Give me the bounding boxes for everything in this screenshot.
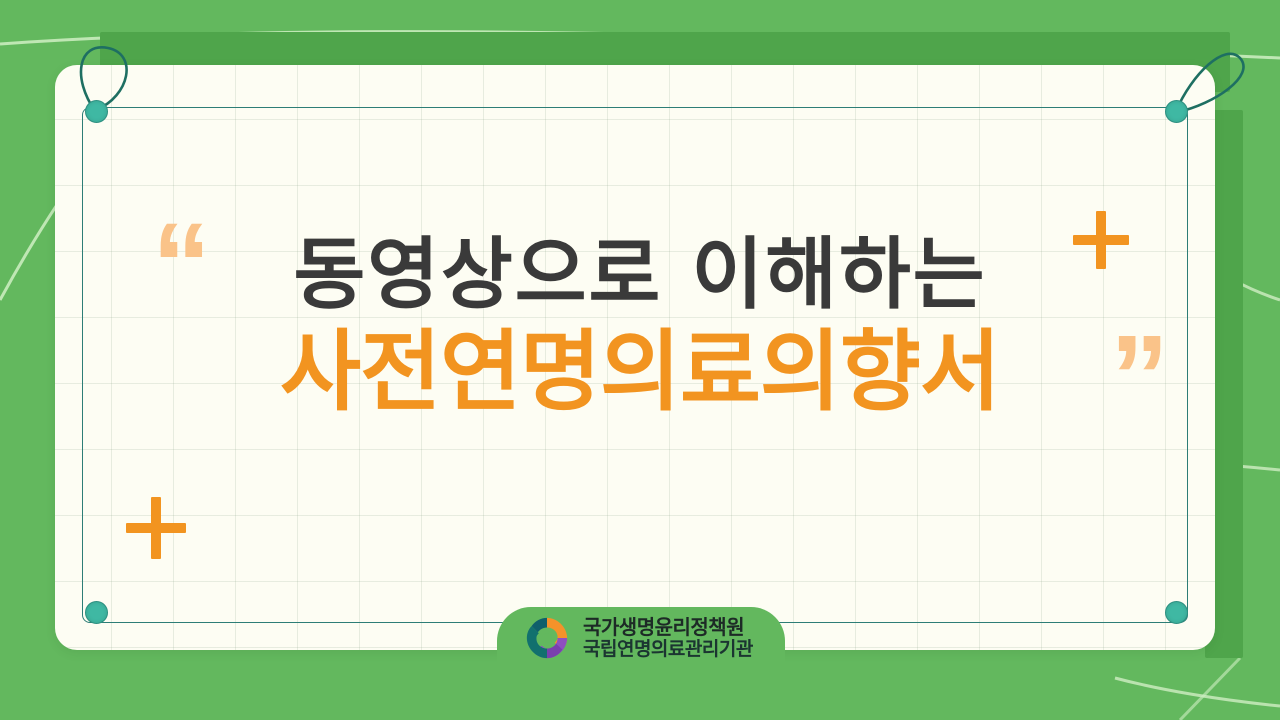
pin-dot-top-right bbox=[1165, 100, 1188, 123]
organization-subname: 국립연명의료관리기관 bbox=[583, 639, 753, 660]
pin-dot-bottom-right bbox=[1165, 601, 1188, 624]
pin-dot-top-left bbox=[85, 100, 108, 123]
slide-canvas: “ ” 동영상으로 이해하는 사전연명의료의향서 국가생명윤리정책원 국립연명의… bbox=[0, 0, 1280, 720]
title-block: 동영상으로 이해하는 사전연명의료의향서 bbox=[0, 236, 1280, 418]
pin-dot-bottom-left bbox=[85, 601, 108, 624]
organization-name-block: 국가생명윤리정책원 국립연명의료관리기관 bbox=[583, 616, 753, 660]
pinwheel-logo-icon bbox=[523, 614, 571, 662]
plus-icon-bottom-left bbox=[126, 497, 186, 559]
title-line-secondary: 사전연명의료의향서 bbox=[0, 326, 1280, 418]
title-line-primary: 동영상으로 이해하는 bbox=[0, 236, 1280, 314]
organization-name: 국가생명윤리정책원 bbox=[583, 616, 753, 638]
organization-badge: 국가생명윤리정책원 국립연명의료관리기관 bbox=[497, 607, 785, 669]
